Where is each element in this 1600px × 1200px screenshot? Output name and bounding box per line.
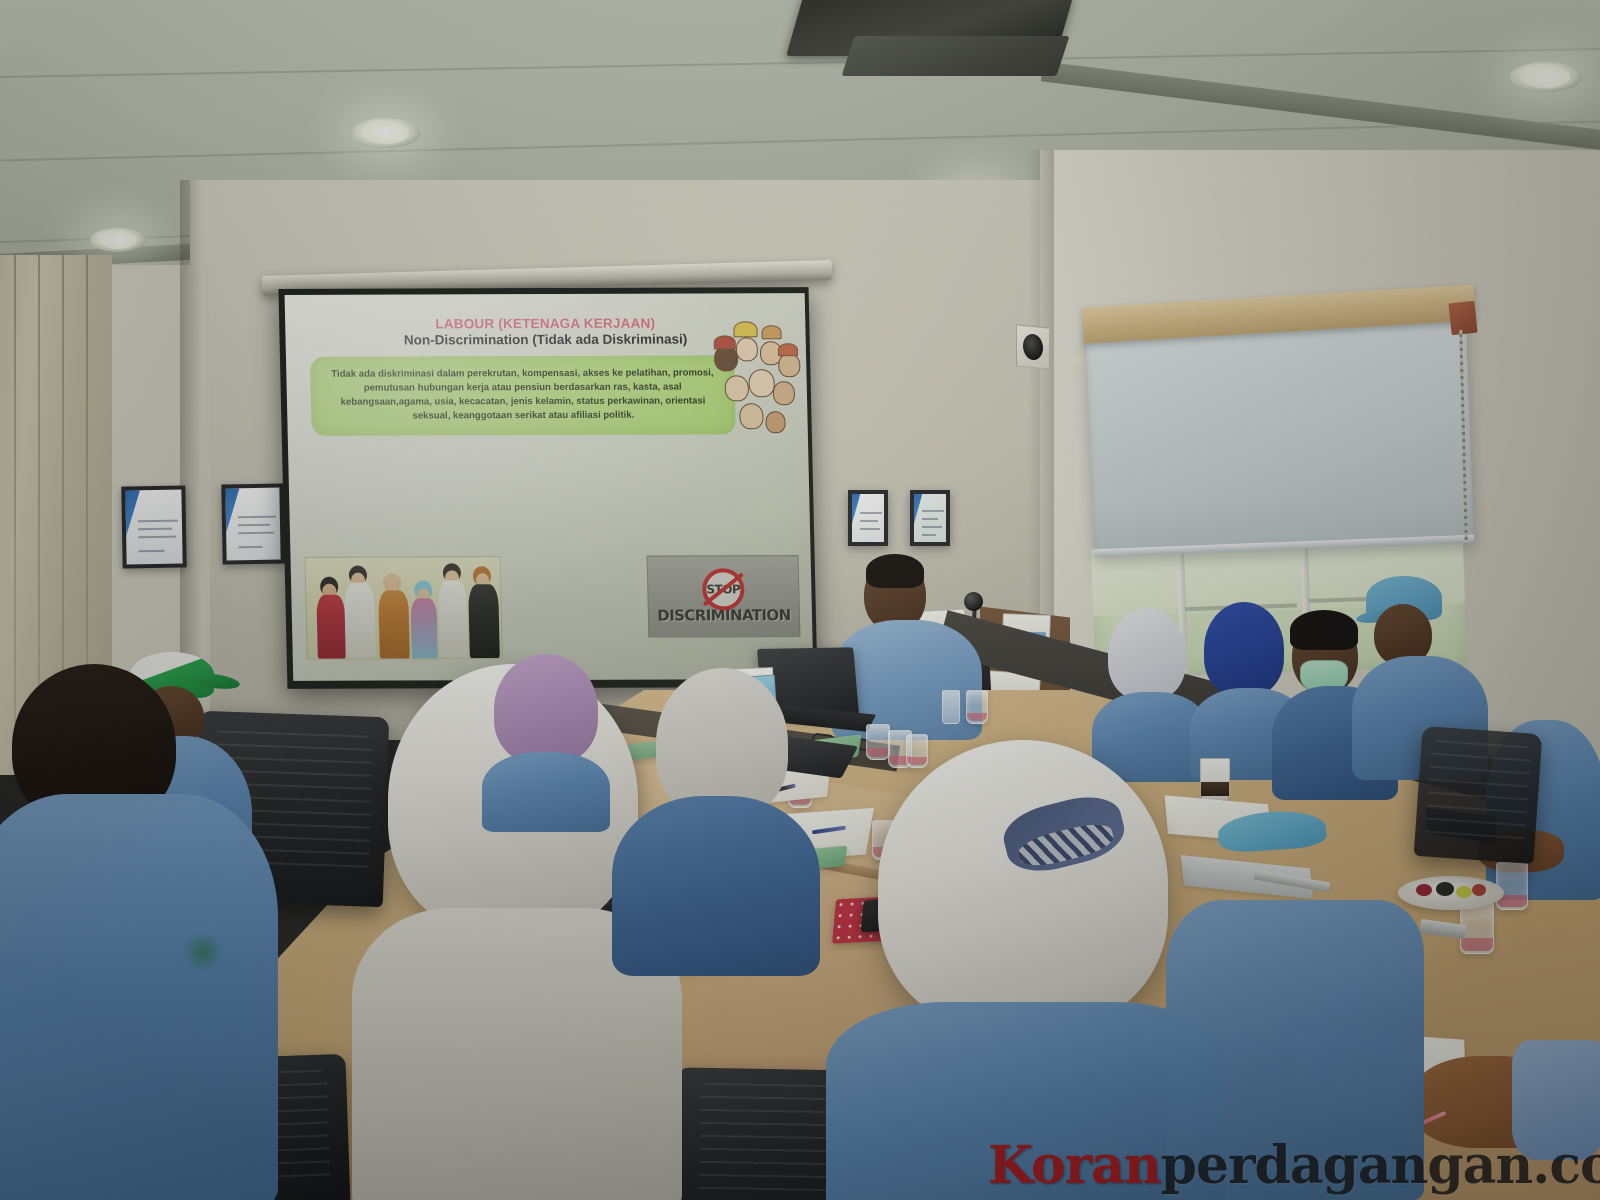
slide-image-diverse-people [304,556,502,660]
hijab [878,740,1168,1030]
presentation-slide: LABOUR (KETENAGA KERJAAN) Non-Discrimina… [285,293,814,681]
ac-vent-grille [842,36,1070,76]
ceiling-downlight [352,118,420,148]
slide-body-box: Tidak ada diskriminasi dalam perekrutan,… [310,355,736,435]
attendee-purple-hijab [482,654,612,824]
window-roller-blind[interactable] [1086,313,1475,557]
water-glass [966,690,988,724]
watermark: Koranperdagangan.com [988,1140,1600,1192]
water-glass [1496,862,1528,910]
stop-word: STOP [706,582,740,596]
ceiling-downlight [1510,62,1582,92]
attendee-mid-grey-hijab [612,668,822,968]
hijab [1108,608,1186,700]
attendee-foreground-left [0,664,280,1200]
meeting-room-photo: LABOUR (KETENAGA KERJAAN) Non-Discrimina… [0,0,1600,1200]
projector-screen: LABOUR (KETENAGA KERJAAN) Non-Discrimina… [278,287,817,689]
blind-bracket [1448,301,1477,336]
framed-certificate [221,483,284,564]
framed-certificate [910,490,950,546]
slide-body-text: Tidak ada diskriminasi dalam perekrutan,… [322,366,723,423]
diverse-people-cartoon-icon [707,319,806,459]
framed-certificate [121,485,186,568]
slide-image-stop-discrimination: STOP DISCRIMINATION [647,555,801,638]
wall-speaker-icon [1016,324,1050,370]
watermark-domain: perdagangan.com [1161,1135,1600,1196]
bottle [942,690,960,724]
framed-certificate [848,490,888,546]
hijab [494,654,598,764]
ceiling-downlight [90,228,146,252]
stop-sign-icon: STOP [702,568,745,610]
watermark-brand: Koran [988,1135,1161,1196]
office-chair[interactable] [1414,726,1543,864]
slide-bottom-images: STOP DISCRIMINATION [304,555,801,665]
